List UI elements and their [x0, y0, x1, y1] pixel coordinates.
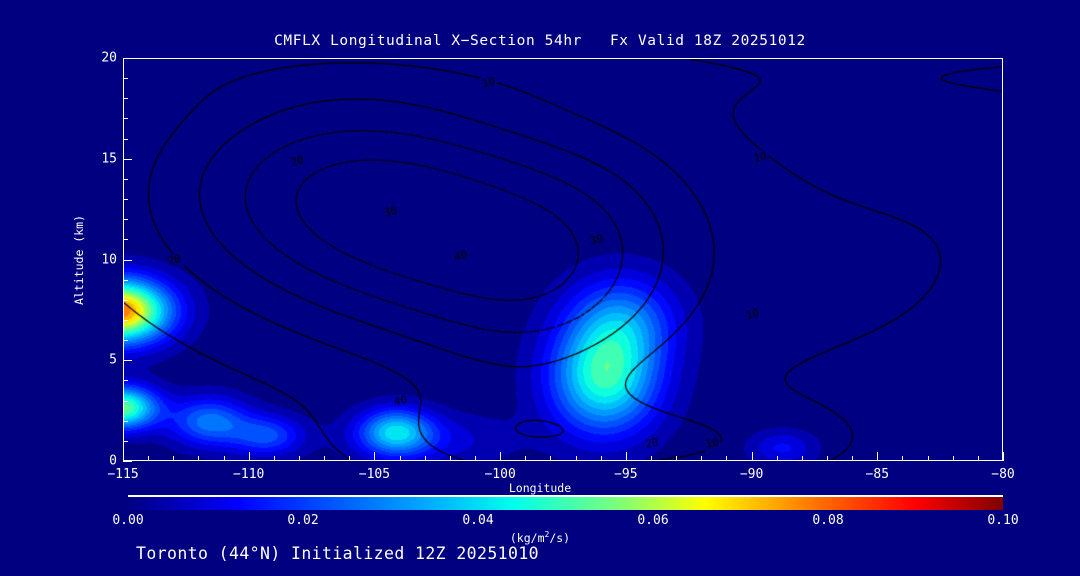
colorbar-tick-label-5: 0.10	[987, 513, 1018, 528]
x-tick-minor	[525, 456, 526, 461]
x-tick-minor	[777, 456, 778, 461]
page-title: CMFLX Longitudinal X−Section 54hr Fx Val…	[0, 33, 1080, 49]
x-tick-major-4	[626, 452, 627, 461]
y-tick-major-1	[123, 360, 132, 361]
y-tick-minor	[123, 300, 128, 301]
x-tick-minor	[349, 456, 350, 461]
x-tick-label-2: −105	[359, 467, 390, 482]
x-tick-minor	[726, 456, 727, 461]
y-tick-minor	[123, 380, 128, 381]
x-tick-minor	[802, 456, 803, 461]
y-tick-minor	[123, 421, 128, 422]
x-tick-minor	[701, 456, 702, 461]
x-tick-minor	[852, 456, 853, 461]
x-tick-minor	[299, 456, 300, 461]
y-tick-label-3: 15	[97, 151, 117, 166]
y-tick-minor	[123, 118, 128, 119]
colorbar-unit-prefix: (kg/m	[510, 531, 545, 545]
colorbar-tick-label-2: 0.04	[462, 513, 493, 528]
y-tick-minor	[123, 280, 128, 281]
x-tick-minor	[978, 456, 979, 461]
y-tick-minor	[123, 219, 128, 220]
colorbar-unit-label: (kg/m2/s)	[0, 530, 1080, 545]
y-tick-label-0: 0	[97, 454, 117, 469]
y-tick-label-2: 10	[97, 252, 117, 267]
x-tick-major-2	[374, 452, 375, 461]
y-tick-minor	[123, 401, 128, 402]
y-tick-label-1: 5	[97, 353, 117, 368]
y-tick-major-4	[123, 58, 132, 59]
x-tick-minor	[928, 456, 929, 461]
y-tick-minor	[123, 78, 128, 79]
x-axis-title: Longitude	[0, 481, 1080, 495]
y-tick-minor	[123, 179, 128, 180]
x-tick-minor	[827, 456, 828, 461]
y-tick-major-3	[123, 159, 132, 160]
x-tick-major-1	[249, 452, 250, 461]
x-tick-minor	[576, 456, 577, 461]
x-tick-major-7	[1003, 452, 1004, 461]
x-tick-label-5: −90	[740, 467, 763, 482]
y-tick-minor	[123, 139, 128, 140]
y-tick-major-2	[123, 260, 132, 261]
x-tick-major-5	[752, 452, 753, 461]
x-tick-label-3: −100	[484, 467, 515, 482]
x-tick-major-0	[123, 452, 124, 461]
y-tick-major-0	[123, 461, 132, 462]
x-tick-minor	[324, 456, 325, 461]
x-tick-minor	[953, 456, 954, 461]
colorbar-tick-label-4: 0.08	[812, 513, 843, 528]
x-tick-major-6	[877, 452, 878, 461]
footer-caption: Toronto (44°N) Initialized 12Z 20251010	[136, 544, 539, 563]
x-tick-label-6: −85	[866, 467, 889, 482]
x-tick-minor	[198, 456, 199, 461]
colorbar-tick-label-1: 0.02	[287, 513, 318, 528]
y-tick-minor	[123, 239, 128, 240]
x-tick-minor	[902, 456, 903, 461]
x-tick-minor	[450, 456, 451, 461]
colorbar-tick-label-3: 0.06	[637, 513, 668, 528]
x-tick-minor	[148, 456, 149, 461]
y-axis-title: Altitude (km)	[72, 215, 86, 305]
plot-page: CMFLX Longitudinal X−Section 54hr Fx Val…	[0, 0, 1080, 576]
colorbar	[128, 497, 1003, 510]
x-tick-label-0: −115	[107, 467, 138, 482]
x-tick-label-1: −110	[233, 467, 264, 482]
contour-overlay-canvas	[124, 59, 1003, 461]
y-tick-minor	[123, 98, 128, 99]
x-tick-minor	[676, 456, 677, 461]
x-tick-minor	[400, 456, 401, 461]
x-tick-minor	[601, 456, 602, 461]
x-tick-minor	[173, 456, 174, 461]
colorbar-gradient	[128, 497, 1003, 510]
y-tick-minor	[123, 340, 128, 341]
colorbar-unit-suffix: /s)	[549, 531, 570, 545]
x-tick-minor	[550, 456, 551, 461]
y-tick-minor	[123, 199, 128, 200]
x-tick-label-4: −95	[614, 467, 637, 482]
x-tick-label-7: −80	[991, 467, 1014, 482]
x-tick-minor	[475, 456, 476, 461]
colorbar-tick-label-0: 0.00	[112, 513, 143, 528]
x-tick-minor	[425, 456, 426, 461]
x-tick-minor	[224, 456, 225, 461]
y-tick-label-4: 20	[97, 51, 117, 66]
y-tick-minor	[123, 441, 128, 442]
x-tick-minor	[274, 456, 275, 461]
plot-area	[123, 58, 1003, 461]
x-tick-major-3	[500, 452, 501, 461]
y-tick-minor	[123, 320, 128, 321]
x-tick-minor	[651, 456, 652, 461]
